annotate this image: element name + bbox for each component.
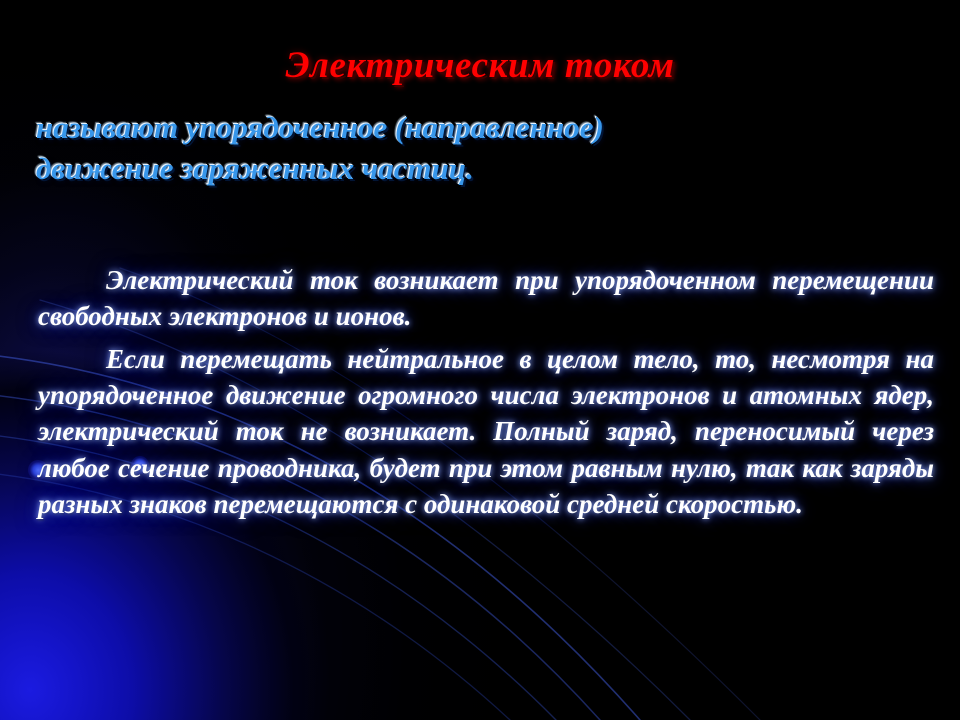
slide-body-text: Электрический ток возникает при упорядоч… xyxy=(38,262,934,522)
slide-content: Электрическим током называют упорядоченн… xyxy=(0,0,960,720)
subtitle-line-1: называют упорядоченное (направленное) xyxy=(36,108,936,149)
presentation-slide: Электрическим током называют упорядоченн… xyxy=(0,0,960,720)
body-paragraph-2: Если перемещать нейтральное в целом тело… xyxy=(38,341,934,523)
subtitle-line-2: движение заряженных частиц. xyxy=(36,149,936,190)
body-paragraph-1: Электрический ток возникает при упорядоч… xyxy=(38,262,934,335)
slide-subtitle: называют упорядоченное (направленное) дв… xyxy=(36,108,936,189)
slide-title: Электрическим током xyxy=(0,44,960,87)
